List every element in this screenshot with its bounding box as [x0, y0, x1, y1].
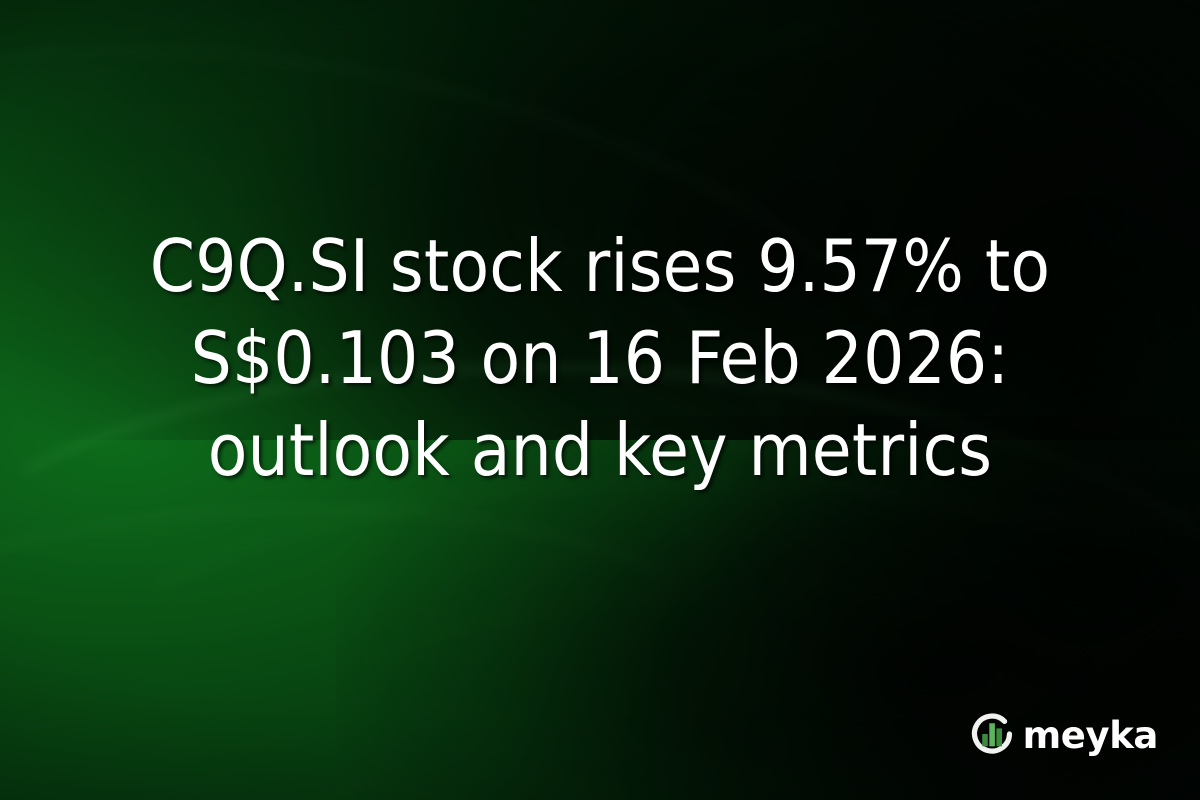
meyka-logo[interactable]: meyka [968, 710, 1158, 758]
meyka-wordmark: meyka [1023, 717, 1158, 754]
headline-title: C9Q.SI stock rises 9.57% to S$0.103 on 1… [0, 220, 1200, 496]
news-share-card: C9Q.SI stock rises 9.57% to S$0.103 on 1… [0, 0, 1200, 800]
meyka-bar-chart-ring-icon [968, 710, 1016, 758]
